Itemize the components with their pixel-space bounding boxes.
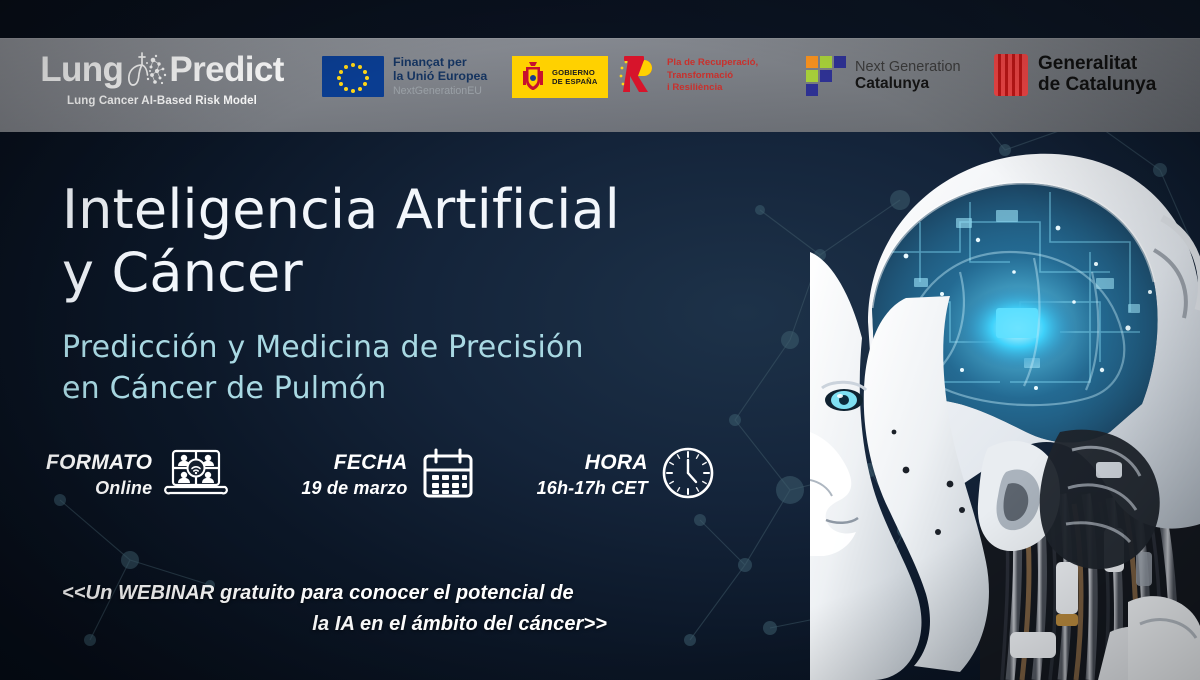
clock-icon [659,444,717,507]
plan-line3: i Resiliència [667,82,758,95]
detail-hora: HORA 16h-17h CET [537,444,717,507]
prtr-logo-icon [618,54,660,98]
formato-label: FORMATO [46,451,152,475]
formato-value: Online [46,477,152,500]
webinar-poster: Lung [0,0,1200,680]
next-generation-squares-icon [806,56,846,96]
lungpredict-logo: Lung [32,48,292,107]
hora-value: 16h-17h CET [537,477,648,500]
eu-funding-logo: Finançat per la Unió Europea NextGenerat… [322,56,487,98]
brand-tagline: Lung Cancer AI-Based Risk Model [32,95,292,107]
eu-line3: NextGenerationEU [393,86,487,98]
subtitle-line2: en Cáncer de Pulmón [62,368,584,409]
eu-line1: Finançat per [393,56,487,70]
plan-line2: Transformació [667,70,758,83]
brand-word-lung: Lung [40,52,123,87]
plan-recuperacion-logo: Pla de Recuperació, Transformació i Resi… [618,54,758,98]
webinar-tagline: <<Un WEBINAR gratuito para conocer el po… [62,578,607,640]
spain-coat-of-arms-icon [518,61,548,93]
eu-line2: la Unió Europea [393,70,487,84]
event-details-row: FORMATO Online [46,443,717,508]
headline-line1: Inteligencia Artificial [62,178,620,241]
laptop-video-call-icon [163,443,229,508]
fecha-value: 19 de marzo [301,477,407,500]
top-dark-strip [0,0,1200,38]
fecha-label: FECHA [301,451,407,475]
gobierno-line1: GOBIERNO [552,68,598,77]
detail-formato: FORMATO Online [46,443,229,508]
generalitat-line2: de Catalunya [1038,75,1156,96]
brand-word-predict: Predict [169,52,283,87]
gobierno-line2: DE ESPAÑA [552,77,598,86]
robot-head-ai-brain-image [810,132,1200,680]
page-title: Inteligencia Artificial y Cáncer [62,178,620,304]
generalitat-catalunya-logo: Generalitat de Catalunya [994,54,1156,96]
subtitle-line1: Predicción y Medicina de Precisión [62,327,584,368]
calendar-icon [419,444,477,507]
detail-fecha: FECHA 19 de marzo [301,444,476,507]
plan-line1: Pla de Recuperació, [667,57,758,70]
eu-flag-icon [322,56,384,97]
tagline-line2: la IA en el ámbito del cáncer>> [62,609,607,640]
ngc-line1: Next Generation [855,59,961,75]
next-generation-catalunya-logo: Next Generation Catalunya [806,56,961,96]
generalitat-line1: Generalitat [1038,54,1156,75]
tagline-line1: <<Un WEBINAR gratuito para conocer el po… [62,578,607,609]
senyera-icon [994,54,1028,96]
headline-line2: y Cáncer [62,241,620,304]
lungs-molecule-icon [123,48,169,90]
gobierno-de-espana-logo: GOBIERNO DE ESPAÑA [512,56,608,98]
hora-label: HORA [537,451,648,475]
ngc-line2: Catalunya [855,75,961,92]
page-subtitle: Predicción y Medicina de Precisión en Cá… [62,327,584,409]
